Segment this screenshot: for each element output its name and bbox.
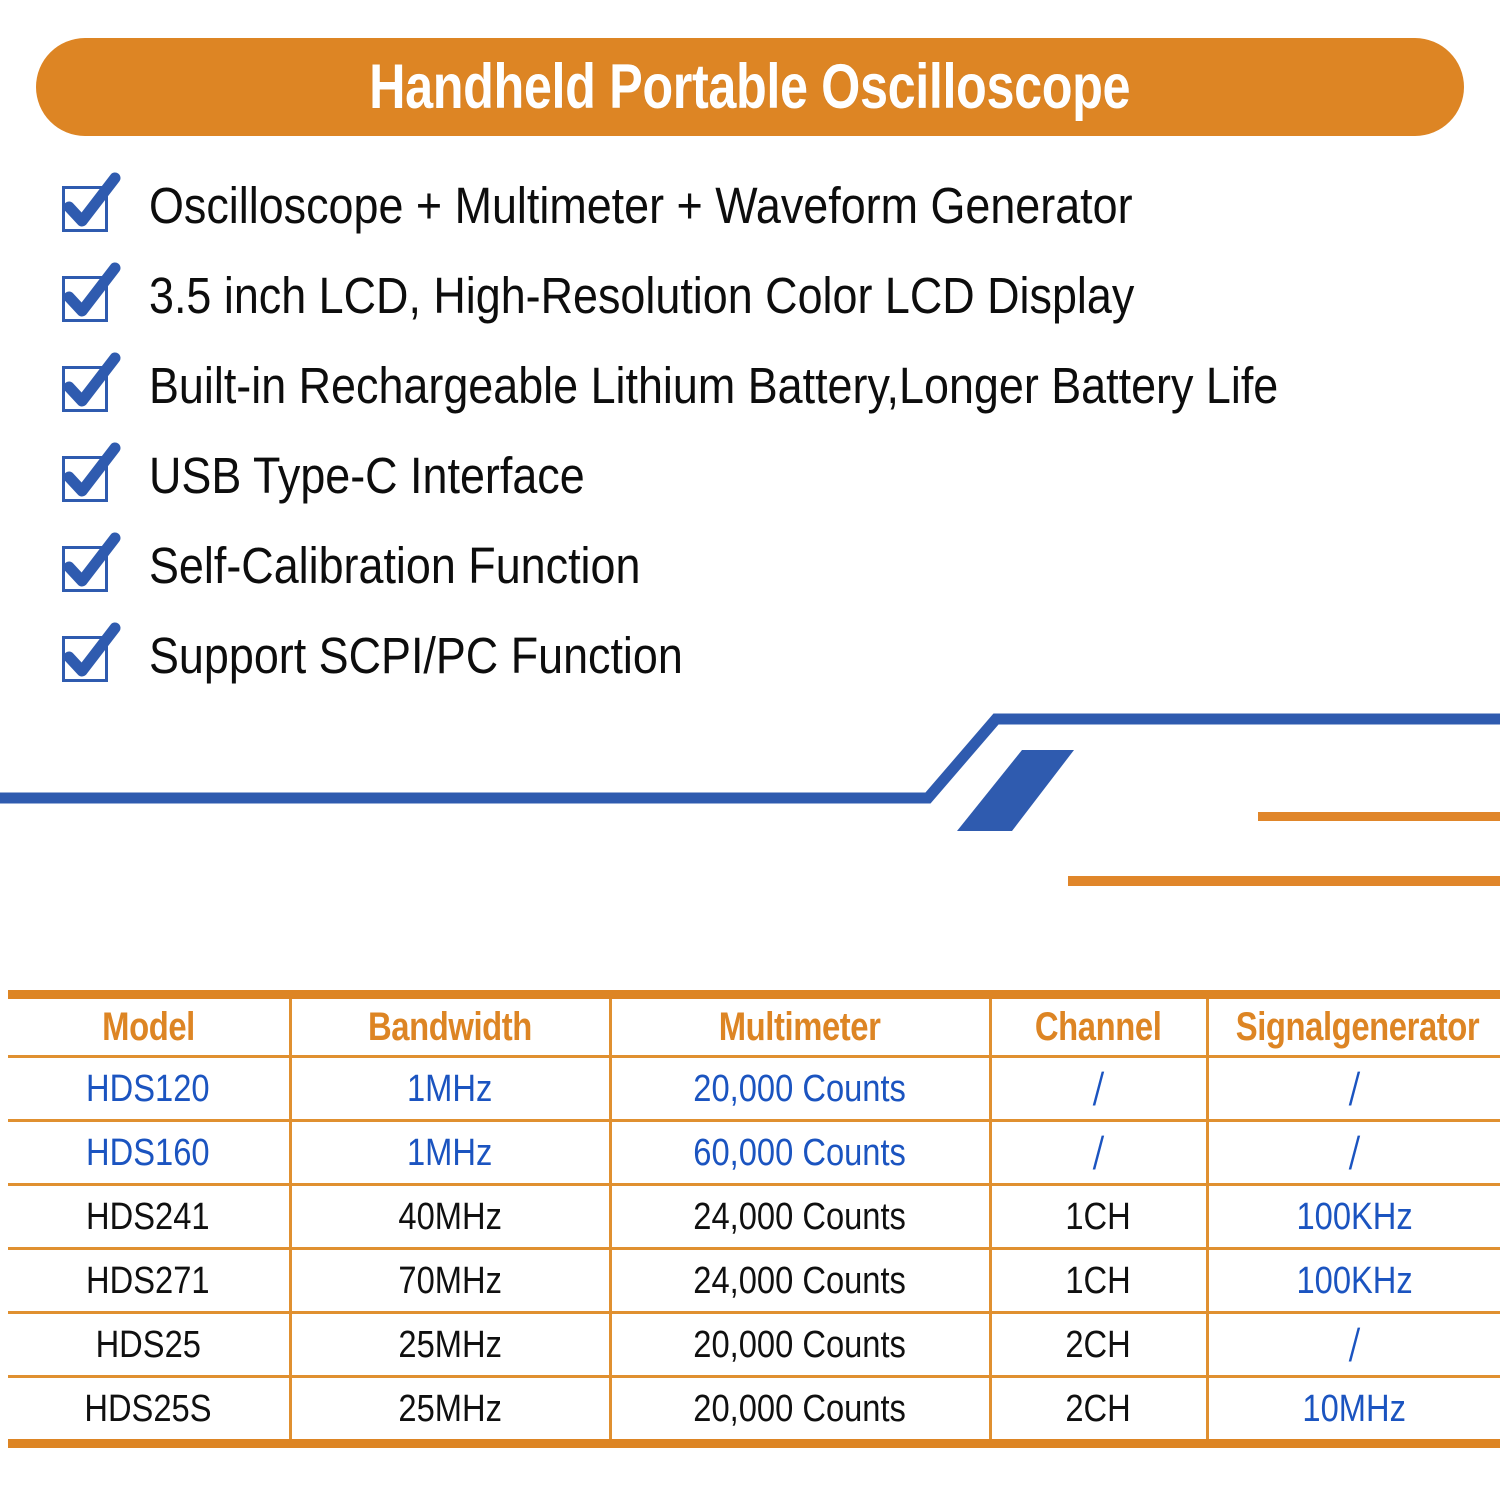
cell-multimeter: 60,000 Counts — [610, 1121, 990, 1185]
cell-channel: 2CH — [990, 1313, 1207, 1377]
cell-multimeter: 20,000 Counts — [610, 1377, 990, 1444]
feature-item-label: Built-in Rechargeable Lithium Battery,Lo… — [149, 360, 1278, 411]
cell-channel: 1CH — [990, 1249, 1207, 1313]
feature-item-label: Oscilloscope + Multimeter + Waveform Gen… — [149, 180, 1133, 231]
cell-signalgenerator: 100KHz — [1207, 1185, 1500, 1249]
feature-item: Built-in Rechargeable Lithium Battery,Lo… — [0, 340, 1500, 430]
table-header-row: Model Bandwidth Multimeter Channel Signa… — [8, 995, 1500, 1057]
cell-channel: / — [990, 1121, 1207, 1185]
cell-signalgenerator: 10MHz — [1207, 1377, 1500, 1444]
cell-multimeter: 24,000 Counts — [610, 1249, 990, 1313]
cell-model: HDS25S — [8, 1377, 290, 1444]
table-row: HDS120 1MHz 20,000 Counts / / — [8, 1057, 1500, 1121]
cell-signalgenerator: 100KHz — [1207, 1249, 1500, 1313]
table-row: HDS25S 25MHz 20,000 Counts 2CH 10MHz — [8, 1377, 1500, 1444]
cell-bandwidth: 25MHz — [290, 1313, 610, 1377]
cell-multimeter: 20,000 Counts — [610, 1057, 990, 1121]
table-row: HDS241 40MHz 24,000 Counts 1CH 100KHz — [8, 1185, 1500, 1249]
blue-parallelogram — [957, 750, 1074, 831]
cell-multimeter: 20,000 Counts — [610, 1313, 990, 1377]
checkbox-checked-icon — [58, 174, 120, 236]
cell-bandwidth: 1MHz — [290, 1121, 610, 1185]
cell-signalgenerator: / — [1207, 1057, 1500, 1121]
cell-bandwidth: 1MHz — [290, 1057, 610, 1121]
feature-item-label: 3.5 inch LCD, High-Resolution Color LCD … — [149, 270, 1134, 321]
decorative-graphic — [0, 690, 1500, 920]
cell-bandwidth: 25MHz — [290, 1377, 610, 1444]
cell-multimeter: 24,000 Counts — [610, 1185, 990, 1249]
checkbox-checked-icon — [58, 534, 120, 596]
page-title-banner: Handheld Portable Oscilloscope — [36, 38, 1464, 136]
table-row: HDS160 1MHz 60,000 Counts / / — [8, 1121, 1500, 1185]
orange-line-upper — [1258, 812, 1500, 821]
column-header-multimeter: Multimeter — [610, 995, 990, 1057]
spec-table: Model Bandwidth Multimeter Channel Signa… — [8, 990, 1500, 1448]
feature-item: Self-Calibration Function — [0, 520, 1500, 610]
feature-item-label: Self-Calibration Function — [149, 540, 640, 591]
feature-item-label: Support SCPI/PC Function — [149, 630, 683, 681]
cell-model: HDS25 — [8, 1313, 290, 1377]
cell-signalgenerator: / — [1207, 1313, 1500, 1377]
feature-item-label: USB Type-C Interface — [149, 450, 585, 501]
spec-table-wrapper: Model Bandwidth Multimeter Channel Signa… — [8, 990, 1500, 1448]
cell-bandwidth: 70MHz — [290, 1249, 610, 1313]
orange-line-lower — [1068, 876, 1500, 886]
feature-list: Oscilloscope + Multimeter + Waveform Gen… — [0, 160, 1500, 700]
cell-channel: / — [990, 1057, 1207, 1121]
blue-stepped-line — [0, 719, 1500, 798]
table-row: HDS25 25MHz 20,000 Counts 2CH / — [8, 1313, 1500, 1377]
cell-model: HDS241 — [8, 1185, 290, 1249]
cell-model: HDS271 — [8, 1249, 290, 1313]
page-title: Handheld Portable Oscilloscope — [369, 56, 1130, 119]
cell-model: HDS160 — [8, 1121, 290, 1185]
cell-channel: 2CH — [990, 1377, 1207, 1444]
column-header-bandwidth: Bandwidth — [290, 995, 610, 1057]
cell-signalgenerator: / — [1207, 1121, 1500, 1185]
feature-item: Support SCPI/PC Function — [0, 610, 1500, 700]
feature-item: 3.5 inch LCD, High-Resolution Color LCD … — [0, 250, 1500, 340]
cell-model: HDS120 — [8, 1057, 290, 1121]
checkbox-checked-icon — [58, 624, 120, 686]
column-header-channel: Channel — [990, 995, 1207, 1057]
checkbox-checked-icon — [58, 444, 120, 506]
checkbox-checked-icon — [58, 354, 120, 416]
feature-item: Oscilloscope + Multimeter + Waveform Gen… — [0, 160, 1500, 250]
feature-item: USB Type-C Interface — [0, 430, 1500, 520]
cell-bandwidth: 40MHz — [290, 1185, 610, 1249]
checkbox-checked-icon — [58, 264, 120, 326]
column-header-signalgenerator: Signalgenerator — [1207, 995, 1500, 1057]
table-row: HDS271 70MHz 24,000 Counts 1CH 100KHz — [8, 1249, 1500, 1313]
cell-channel: 1CH — [990, 1185, 1207, 1249]
column-header-model: Model — [8, 995, 290, 1057]
